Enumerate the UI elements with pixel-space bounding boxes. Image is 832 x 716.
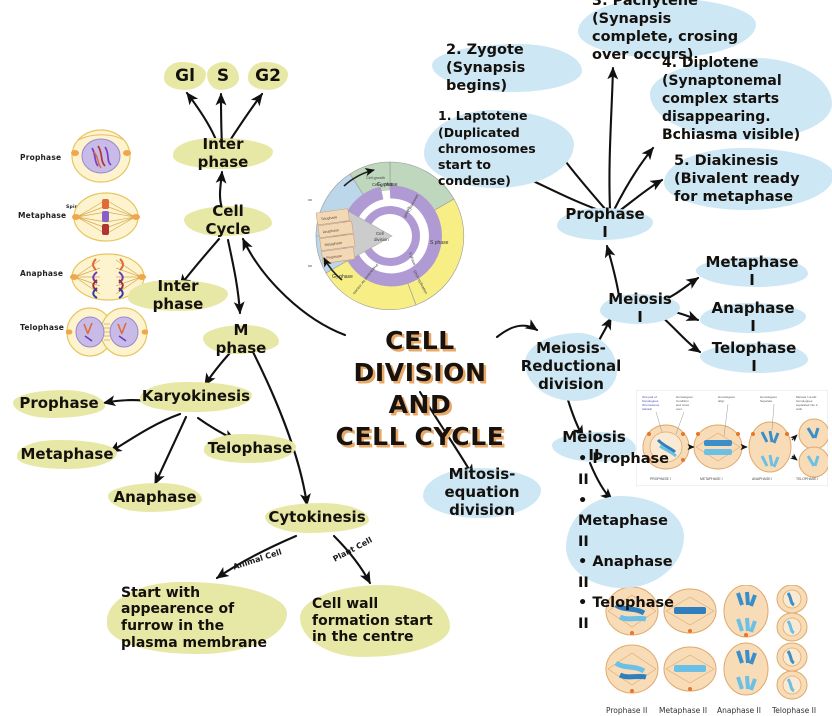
meiosis2-caption-prophase: Prophase II bbox=[606, 706, 647, 715]
title-line-3: CELL CYCLE bbox=[330, 421, 510, 453]
node-s[interactable]: S bbox=[207, 62, 239, 90]
node-telophase[interactable]: Telophase bbox=[204, 434, 296, 463]
meiosis2-caption-telophase: Telophase II bbox=[772, 706, 816, 715]
node-cytokinesis[interactable]: Cytokinesis bbox=[265, 503, 369, 533]
mitosis-metaphase-illustration bbox=[72, 190, 140, 244]
svg-text:cells: cells bbox=[796, 407, 803, 411]
svg-text:(tetrad): (tetrad) bbox=[642, 407, 652, 411]
node-zygotene[interactable]: 2. Zygote (Synapsis begins) bbox=[432, 44, 582, 92]
svg-text:Separate: Separate bbox=[760, 399, 773, 403]
svg-text:S phase: S phase bbox=[430, 240, 449, 246]
mitosis-figure-label-anaphase: Anaphase bbox=[20, 269, 63, 278]
title-line-2: AND bbox=[330, 389, 510, 421]
meiosis2-caption-anaphase: Anaphase II bbox=[717, 706, 761, 715]
svg-text:METAPHASE I: METAPHASE I bbox=[700, 477, 723, 481]
title-line-1: CELL DIVISION bbox=[330, 325, 510, 389]
node-leptotene[interactable]: 1. Laptotene (Duplicated chromosomes sta… bbox=[424, 110, 574, 188]
node-g1[interactable]: Gl bbox=[164, 62, 206, 90]
node-karyokinesis[interactable]: Karyokinesis bbox=[140, 382, 252, 412]
node-interphase-left[interactable]: Inter phase bbox=[128, 280, 228, 311]
node-animal-cell-result[interactable]: Start with appearence of furrow in the p… bbox=[107, 582, 287, 654]
edge-meiosis1-prophase1 bbox=[607, 246, 619, 296]
svg-text:align: align bbox=[718, 399, 725, 403]
node-diplotene[interactable]: 4. Diplotene (Synaptonemal complex start… bbox=[650, 58, 832, 140]
edge-label-animal-cell: Animal Cell bbox=[232, 547, 283, 571]
meiosis2-caption-metaphase: Metaphase II bbox=[659, 706, 707, 715]
svg-text:over: over bbox=[676, 407, 682, 411]
node-pachytene[interactable]: 3. Pachytene (Synapsis complete, crosing… bbox=[578, 0, 756, 58]
node-cell-cycle[interactable]: Cell Cycle bbox=[184, 206, 272, 236]
mitosis-telophase-illustration bbox=[66, 306, 148, 358]
node-metaphase-1[interactable]: Metaphase I bbox=[696, 257, 808, 287]
mitosis-figure-label-telophase: Telophase bbox=[20, 323, 64, 332]
page-title: CELL DIVISION AND CELL CYCLE bbox=[330, 325, 510, 453]
edge-prophase1-pachytene bbox=[609, 68, 613, 209]
node-metaphase[interactable]: Metaphase bbox=[17, 440, 117, 469]
edge-karyokinesis-anaphase bbox=[155, 417, 186, 484]
edge-mphase-cytokinesis bbox=[249, 344, 307, 505]
node-g2[interactable]: G2 bbox=[248, 62, 288, 90]
edge-cellcycle-mphase bbox=[228, 240, 240, 313]
mitosis-figure-label-metaphase: Metaphase bbox=[18, 211, 66, 220]
node-plant-cell-result[interactable]: Cell wall formation start in the centre bbox=[300, 585, 450, 657]
svg-text:TELOPHASE I: TELOPHASE I bbox=[796, 477, 818, 481]
mitosis-figure-label-prophase: Prophase bbox=[20, 153, 61, 162]
node-mitosis[interactable]: Mitosis- equation division bbox=[423, 468, 541, 518]
edge-label-plant-cell: Plant Cell bbox=[331, 535, 373, 563]
svg-text:Cell: Cell bbox=[376, 231, 384, 236]
edge-karyokinesis-metaphase bbox=[110, 414, 180, 452]
mitosis-prophase-illustration bbox=[70, 128, 132, 184]
svg-text:Cell growth: Cell growth bbox=[366, 176, 385, 180]
svg-text:ANAPHASE I: ANAPHASE I bbox=[752, 477, 772, 481]
node-m-phase[interactable]: M phase bbox=[203, 325, 279, 354]
node-interphase-top[interactable]: Inter phase bbox=[173, 138, 273, 169]
node-prophase[interactable]: Prophase bbox=[13, 390, 105, 418]
node-meiosis[interactable]: Meiosis- Reductional division bbox=[525, 333, 617, 401]
node-telophase-1[interactable]: Telophase I bbox=[700, 343, 808, 373]
mindmap-canvas: Prophase Metaphase Anaphase Telophase Sp… bbox=[0, 0, 832, 716]
svg-text:division: division bbox=[374, 237, 389, 242]
node-diakinesis[interactable]: 5. Diakinesis (Bivalent ready for metaph… bbox=[664, 148, 832, 210]
svg-text:G₁ phase: G₁ phase bbox=[377, 182, 398, 188]
node-anaphase[interactable]: Anaphase bbox=[108, 483, 202, 512]
edge-prophase1-diplotene bbox=[614, 148, 653, 210]
node-anaphase-1[interactable]: Anaphase I bbox=[700, 303, 806, 333]
node-meiosis2-phase-list[interactable]: • Prophase II • Metaphase II • Anaphase … bbox=[566, 496, 684, 588]
svg-text:G₂ phase: G₂ phase bbox=[332, 274, 353, 280]
node-prophase-1[interactable]: Prophase I bbox=[557, 208, 653, 240]
node-meiosis-1[interactable]: Meiosis I bbox=[600, 294, 680, 324]
